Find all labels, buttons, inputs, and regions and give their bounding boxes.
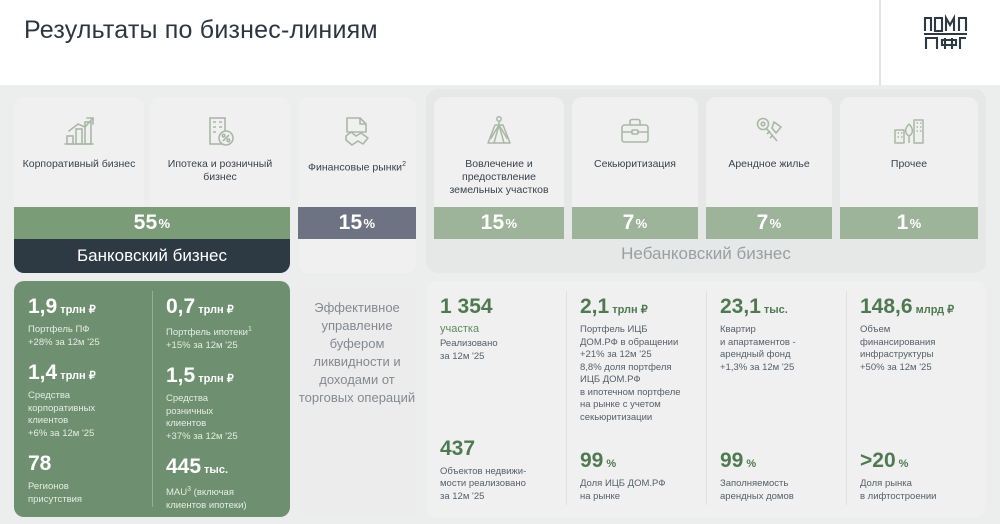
nonbank-stats-column-other: 148,6млрд ₽ Объем финансирования инфраст… [846, 281, 986, 517]
group-label-bank: Банковский бизнес [14, 239, 290, 273]
bar-chart-growth-icon [60, 110, 98, 154]
bank-stats-column-retail: 0,7трлн ₽ Портфель ипотеки1+15% за 12м '… [152, 281, 290, 517]
stat-description: Заполняемость арендных домов [720, 478, 836, 503]
category-card-corporate[interactable]: Корпоративный бизнес [14, 97, 144, 207]
stat-block-secondary: 437 Объектов недвижи- мости реализовано … [440, 437, 556, 504]
percent-bar-other: 1% [840, 207, 978, 239]
percent-bar-rental: 7% [706, 207, 832, 239]
percent-unit: % [910, 216, 922, 231]
percent-unit: % [506, 216, 518, 231]
category-label: Прочее [885, 158, 933, 171]
category-card-rental[interactable]: Арендное жилье [706, 97, 832, 207]
stat-value: 445тыс. [166, 455, 278, 482]
stat-value: 1,5трлн ₽ [166, 364, 278, 391]
percent-unit: % [159, 216, 171, 231]
stat-description: Доля ИЦБ ДОМ.РФ на рынке [580, 478, 696, 503]
stat-description: Регионов присутствия [28, 481, 140, 506]
stat-description: Средства корпоративных клиентов +6% за 1… [28, 390, 140, 440]
stat-description: Средства розничных клиентов +37% за 12м … [166, 393, 278, 443]
percent-value: 7 [757, 211, 769, 235]
nonbank-stats-column-land: 1 354 участка Реализовано за 12м '25 437… [426, 281, 566, 517]
category-label: Секьюритизация [588, 158, 682, 171]
category-card-securitization[interactable]: Секьюритизация [572, 97, 698, 207]
percent-bar-securitization: 7% [572, 207, 698, 239]
percent-value: 15 [481, 211, 505, 235]
building-percent-icon [201, 110, 239, 154]
stat-value: 437 [440, 437, 556, 464]
body-canvas: Корпоративный бизнес Ипотека и розничный… [0, 85, 1000, 524]
stat-value: 99% [720, 449, 836, 476]
nonbank-stats-panel: 1 354 участка Реализовано за 12м '25 437… [426, 281, 986, 517]
stat-description: Портфель ИЦБ ДОМ.РФ в обращении +21% за … [580, 324, 696, 424]
stat-description: Квартир и апартаментов - арендный фонд +… [720, 324, 836, 374]
stat-value: 1,9трлн ₽ [28, 295, 140, 322]
infographic-page: Результаты по бизнес-линиям [0, 0, 1000, 524]
fin-markets-card-tail [298, 239, 416, 273]
stat-description: Доля рынка в лифтостроении [860, 478, 976, 503]
stat-description: Реализовано за 12м '25 [440, 338, 556, 363]
percent-bar-bank: 55% [14, 207, 290, 239]
nonbank-stats-column-securitization: 2,1трлн ₽ Портфель ИЦБ ДОМ.РФ в обращени… [566, 281, 706, 517]
percent-bar-fin-markets: 15% [298, 207, 416, 239]
percent-unit: % [636, 216, 648, 231]
dom-rf-logo-icon [918, 11, 974, 53]
category-card-fin-markets[interactable]: Финансовые рынки2 [298, 97, 416, 207]
document-handshake-icon [338, 110, 376, 154]
category-card-land[interactable]: Вовлечение и предоствление земельных уча… [434, 97, 564, 207]
stat-value: 23,1тыс. [720, 295, 836, 322]
land-plot-icon [480, 110, 518, 154]
fin-markets-text: Эффективное управление буфером ликвиднос… [298, 299, 416, 407]
stat-value: >20% [860, 449, 976, 476]
category-label: Ипотека и розничный бизнес [150, 158, 290, 184]
category-card-mortgage-retail[interactable]: Ипотека и розничный бизнес [150, 97, 290, 207]
stat-value: 148,6млрд ₽ [860, 295, 976, 322]
stat-description: Портфель ПФ +28% за 12м '25 [28, 324, 140, 349]
stat-description: Объектов недвижи- мости реализовано за 1… [440, 466, 556, 504]
stat-value: 2,1трлн ₽ [580, 295, 696, 322]
percent-value: 15 [339, 211, 363, 235]
keys-icon [750, 110, 788, 154]
category-label: Вовлечение и предоствление земельных уча… [434, 158, 564, 197]
percent-bar-land: 15% [434, 207, 564, 239]
stat-value: 99% [580, 449, 696, 476]
stat-value: 0,7трлн ₽ [166, 295, 278, 322]
group-label-nonbank: Небанковский бизнес [426, 239, 986, 269]
percent-unit: % [770, 216, 782, 231]
stat-description: MAU3 (включая клиентов ипотеки) [166, 484, 278, 512]
fin-markets-text-card: Эффективное управление буфером ликвиднос… [298, 281, 416, 517]
bank-stats-column-corporate: 1,9трлн ₽ Портфель ПФ +28% за 12м '25 1,… [14, 281, 152, 517]
stat-block-secondary: 99% Доля ИЦБ ДОМ.РФ на рынке [580, 449, 696, 503]
stat-block-secondary: >20% Доля рынка в лифтостроении [860, 449, 976, 503]
stat-description: Портфель ипотеки1+15% за 12м '25 [166, 324, 278, 352]
stat-subtitle: участка [440, 322, 556, 336]
page-title: Результаты по бизнес-линиям [24, 16, 378, 45]
bank-stats-card: 1,9трлн ₽ Портфель ПФ +28% за 12м '25 1,… [14, 281, 290, 517]
percent-unit: % [364, 216, 376, 231]
category-label: Корпоративный бизнес [17, 158, 142, 171]
stat-value: 78 [28, 452, 140, 479]
stat-value: 1 354 [440, 295, 556, 322]
briefcase-icon [616, 110, 654, 154]
header-divider [879, 0, 881, 86]
category-label: Арендное жилье [722, 158, 815, 171]
nonbank-stats-column-rental: 23,1тыс. Квартир и апартаментов - арендн… [706, 281, 846, 517]
percent-value: 1 [897, 211, 909, 235]
city-tree-icon [890, 110, 928, 154]
percent-value: 55 [134, 211, 158, 235]
percent-value: 7 [623, 211, 635, 235]
stat-description: Объем финансирования инфраструктуры +50%… [860, 324, 976, 374]
header: Результаты по бизнес-линиям [0, 0, 1000, 85]
category-card-other[interactable]: Прочее [840, 97, 978, 207]
stat-value: 1,4трлн ₽ [28, 361, 140, 388]
category-label: Финансовые рынки2 [302, 158, 412, 175]
stat-block-secondary: 99% Заполняемость арендных домов [720, 449, 836, 503]
